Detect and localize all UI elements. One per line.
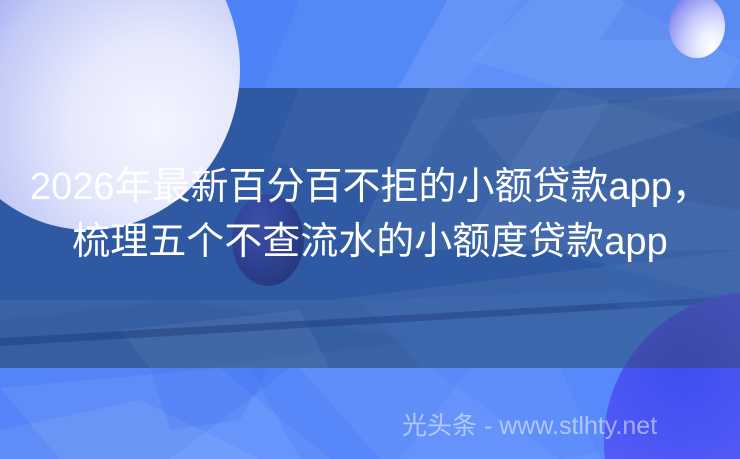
- promo-banner: 2026年最新百分百不拒的小额贷款app，梳理五个不查流水的小额度贷款app 光…: [0, 0, 740, 459]
- banner-headline: 2026年最新百分百不拒的小额贷款app，梳理五个不查流水的小额度贷款app: [0, 160, 740, 270]
- site-watermark: 光头条 - www.stlhty.net: [402, 409, 657, 443]
